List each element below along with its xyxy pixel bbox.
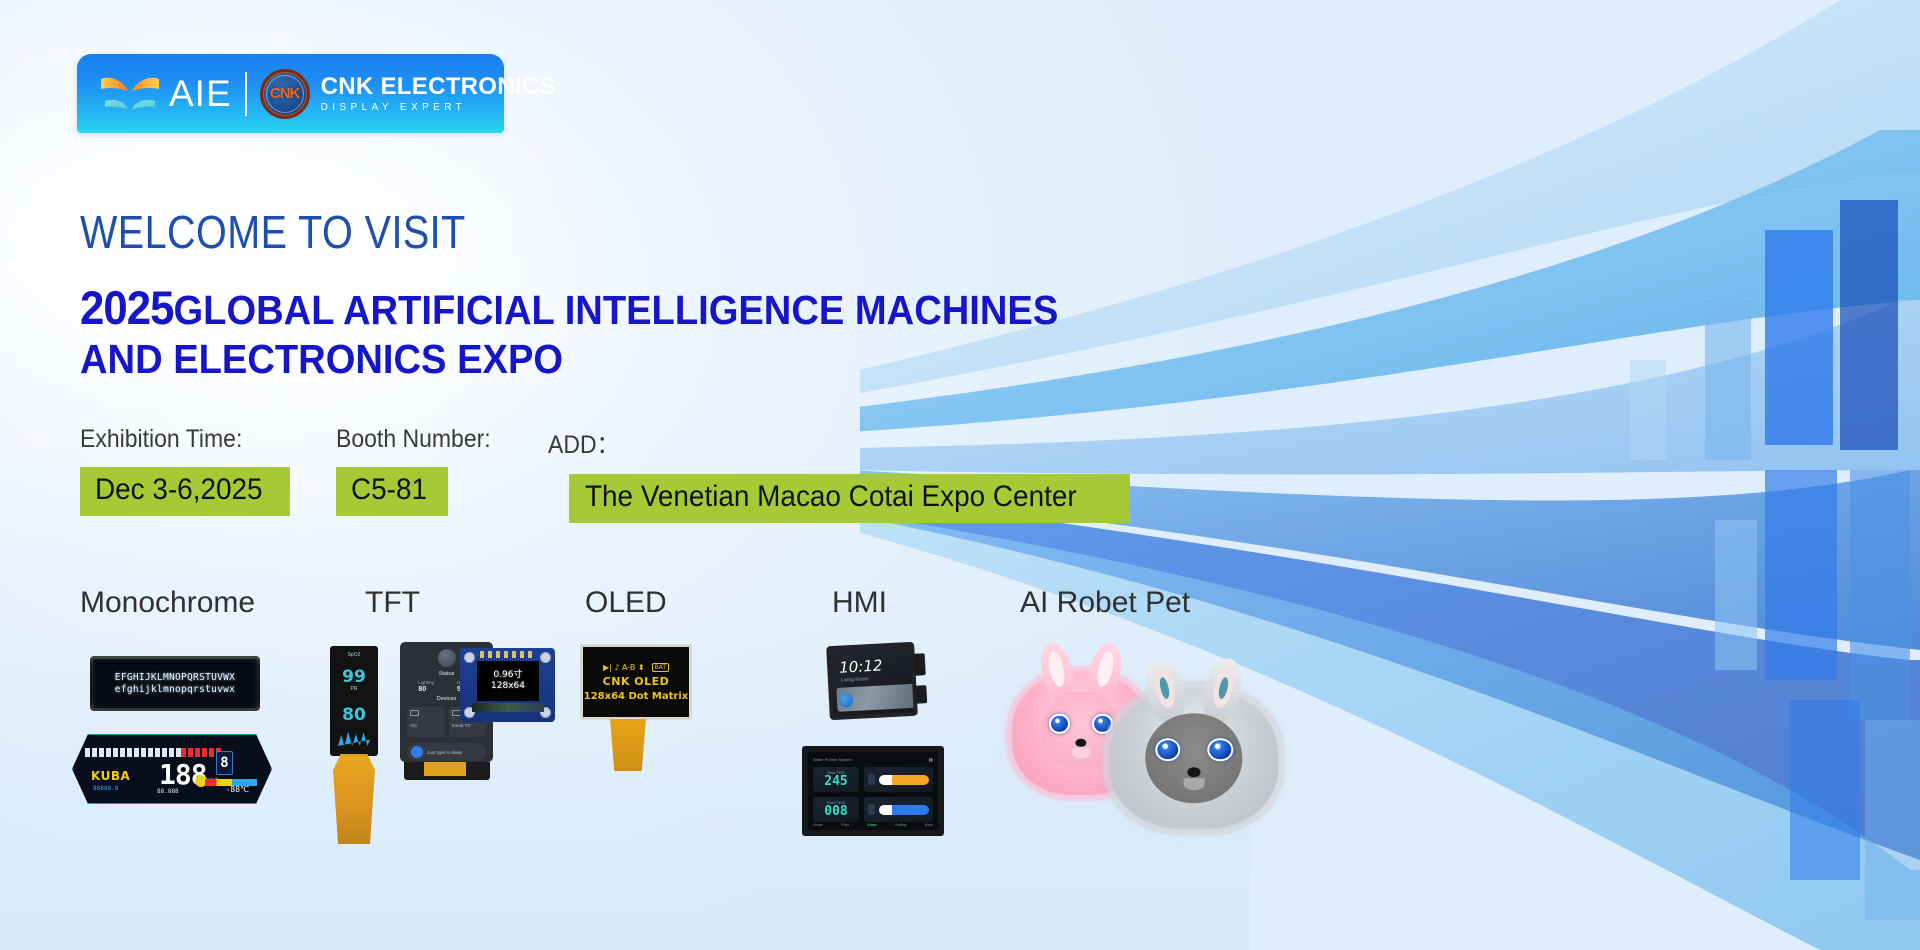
smart-panel-avatar-icon xyxy=(438,649,456,667)
oled-blue-screen: 0.96寸 128x64 xyxy=(477,661,539,701)
smart-panel-footer-label: Just type to sleep xyxy=(427,750,462,755)
oximeter-spo2-value: 99 xyxy=(334,668,374,686)
hmi-purifier-tds-out: Pure TDS 008 xyxy=(813,797,859,822)
oled-blue-ribbon xyxy=(472,703,544,712)
pcb-mount-hole xyxy=(540,652,551,663)
hmi-purifier-topbar: Water Purifier System ▮▮ xyxy=(813,757,933,762)
dashboard-brand: KUBA xyxy=(91,769,130,783)
pet-gray-nose xyxy=(1187,767,1201,777)
pet-gray-eye-right xyxy=(1208,738,1233,761)
warm-slider-track[interactable] xyxy=(879,775,929,785)
pet-gray-muzzle xyxy=(1183,778,1204,791)
hmi-switch-side-clip xyxy=(913,653,926,676)
aie-wordmark: AIE xyxy=(169,75,232,112)
smart-panel-footer-bar[interactable]: Just type to sleep xyxy=(407,743,486,761)
expo-year: 2025 xyxy=(80,281,174,334)
product-monochrome-character-lcd: EFGHIJKLMNOPQRSTUVWX efghijklmnopqrstuvw… xyxy=(90,656,260,711)
category-tft: TFT xyxy=(365,586,420,620)
oled-amber-screen: ▶| ♪ A-B ⬍ BAT CNK OLED 128x64 Dot Matri… xyxy=(583,647,689,717)
hmi-switch-subtitle: Living Room xyxy=(841,676,869,683)
dashboard-trip: 88.888 xyxy=(157,788,179,795)
exhibition-time-value: Dec 3-6,2025 xyxy=(95,473,263,507)
smart-panel-stat1-label: Lighting xyxy=(418,680,434,685)
aie-eyes-icon xyxy=(99,71,161,117)
oled-amber-subtitle: 128x64 Dot Matrix xyxy=(584,691,688,702)
cnk-seal-text: CNK xyxy=(263,72,307,116)
dashboard-temperature: -88℃ xyxy=(226,785,249,794)
dashboard-odometer: 88888.8 xyxy=(93,785,118,792)
oled-blue-size: 0.96寸 xyxy=(493,670,522,681)
hmi-purifier-cold-slider[interactable] xyxy=(864,797,933,822)
oled-amber-status-icons: ▶| ♪ A-B ⬍ BAT xyxy=(603,663,669,672)
smart-panel-device2-label: Smart TV xyxy=(452,723,471,728)
product-hmi-wall-switch: 10:12 Living Room xyxy=(826,642,918,721)
product-showcase: Monochrome EFGHIJKLMNOPQRSTUVWX efghijkl… xyxy=(0,586,1300,926)
booth-number-value: C5-81 xyxy=(351,473,427,507)
smart-panel-stat-lighting: Lighting 80 xyxy=(418,680,434,693)
cnk-company-name: CNK ELECTRONICS xyxy=(321,75,556,99)
product-tft-bar-oximeter: SpO2 99 PR 80 xyxy=(330,646,378,756)
pet-pink-face xyxy=(1041,692,1121,770)
mono-lcd-line2: efghijklmnopqrstuvwx xyxy=(115,684,235,695)
product-motorcycle-dashboard-lcd: KUBA 188 km/h 88888.8 88.888 8 -88℃ xyxy=(72,734,272,804)
category-label-monochrome: Monochrome xyxy=(80,586,255,620)
hmi-switch-time: 10:12 xyxy=(839,656,883,676)
oled-amber-flex-cable xyxy=(610,719,646,771)
smart-panel-device-ac[interactable]: A/C xyxy=(407,707,445,737)
hmi-purifier-nav2[interactable]: Filter xyxy=(841,823,849,827)
hmi-purifier-signal-icon: ▮▮ xyxy=(929,757,933,762)
pet-pink-nose xyxy=(1075,739,1086,748)
pet-gray-eye-left xyxy=(1155,738,1180,761)
pcb-mount-hole xyxy=(464,652,475,663)
product-oled-blue-module: 0.96寸 128x64 xyxy=(460,648,555,722)
address-value: The Venetian Macao Cotai Expo Center xyxy=(585,480,1077,514)
address-label: ADD： xyxy=(548,425,1083,461)
hmi-purifier-nav3[interactable]: Water xyxy=(867,823,876,827)
category-monochrome: Monochrome xyxy=(80,586,255,620)
oximeter-pr-value: 80 xyxy=(334,706,374,724)
ac-icon xyxy=(410,710,419,716)
tft-bar-flex-cable xyxy=(333,754,375,844)
cold-slider-track[interactable] xyxy=(879,805,929,815)
exhibition-time-label: Exhibition Time: xyxy=(80,425,273,454)
warm-water-icon xyxy=(868,774,875,785)
exhibition-time-block: Exhibition Time: Dec 3-6,2025 xyxy=(80,425,290,516)
category-label-tft: TFT xyxy=(365,586,420,620)
hmi-switch-screen: 10:12 Living Room xyxy=(830,646,913,716)
logo-divider xyxy=(245,72,247,116)
hmi-purifier-tds-out-value: 008 xyxy=(816,805,856,819)
booth-number-label: Booth Number: xyxy=(336,425,491,454)
category-oled: OLED xyxy=(585,586,667,620)
category-hmi: HMI xyxy=(832,586,887,620)
hmi-purifier-tds-in: Raw TDS 245 xyxy=(813,767,859,792)
hmi-purifier-nav5[interactable]: More xyxy=(925,823,933,827)
smart-panel-stat1-value: 80 xyxy=(418,686,434,693)
cold-water-icon xyxy=(868,804,875,815)
oximeter-waveform-icon xyxy=(338,730,370,746)
hmi-purifier-navbar: Home Filter Water Setting More xyxy=(813,823,933,827)
hmi-purifier-screen: Water Purifier System ▮▮ Raw TDS 245 Pur… xyxy=(808,752,938,830)
hmi-purifier-nav4[interactable]: Setting xyxy=(895,823,906,827)
category-ai-robot-pet: AI Robet Pet xyxy=(1020,586,1190,620)
pcb-pin-header xyxy=(480,651,536,658)
mono-lcd-line1: EFGHIJKLMNOPQRSTUVWX xyxy=(115,672,235,683)
category-label-ai-robot-pet: AI Robet Pet xyxy=(1020,586,1190,620)
exhibition-info-row: Exhibition Time: Dec 3-6,2025 Booth Numb… xyxy=(80,425,1180,545)
logo-bar: AIE CNK CNK ELECTRONICS DISPLAY EXPERT xyxy=(77,54,504,133)
oled-amber-icon-row: ▶| ♪ A-B ⬍ xyxy=(603,663,645,672)
pet-pink-muzzle xyxy=(1072,748,1090,759)
cnk-seal-icon: CNK xyxy=(260,69,310,119)
pet-pink-eye-left xyxy=(1049,714,1070,734)
product-hmi-water-purifier-panel: Water Purifier System ▮▮ Raw TDS 245 Pur… xyxy=(802,746,944,836)
cold-slider-knob[interactable] xyxy=(881,806,889,814)
oximeter-spo2-label: SpO2 xyxy=(334,652,374,658)
oled-amber-title: CNK OLED xyxy=(603,675,670,688)
battery-icon: BAT xyxy=(652,663,669,672)
product-oled-amber-module: ▶| ♪ A-B ⬍ BAT CNK OLED 128x64 Dot Matri… xyxy=(580,644,692,720)
address-pill: The Venetian Macao Cotai Expo Center xyxy=(569,474,1130,523)
hmi-purifier-nav1[interactable]: Home xyxy=(813,823,823,827)
dashboard-gear-indicator: 8 xyxy=(216,751,233,775)
expo-title-line1: 2025GLOBAL ARTIFICIAL INTELLIGENCE MACHI… xyxy=(80,283,1058,335)
smart-panel-device1-label: A/C xyxy=(410,723,418,728)
cnk-tagline: DISPLAY EXPERT xyxy=(321,103,556,113)
expo-title-rest: GLOBAL ARTIFICIAL INTELLIGENCE MACHINES xyxy=(174,287,1059,333)
oled-blue-resolution: 128x64 xyxy=(491,681,525,692)
expo-title: 2025GLOBAL ARTIFICIAL INTELLIGENCE MACHI… xyxy=(80,283,1132,384)
product-ai-robot-pet-gray xyxy=(1110,670,1278,842)
oximeter-pr-label: PR xyxy=(334,686,374,692)
hmi-purifier-tds-in-value: 245 xyxy=(816,775,856,789)
smart-panel-mic-icon xyxy=(411,746,423,758)
hmi-switch-side-clip xyxy=(914,685,927,704)
welcome-heading: WELCOME TO VISIT xyxy=(80,205,466,259)
booth-number-pill: C5-81 xyxy=(336,467,448,516)
hmi-purifier-warm-slider[interactable] xyxy=(864,767,933,792)
hmi-purifier-topbar-label: Water Purifier System xyxy=(813,757,852,762)
tft-panel-flex-cable xyxy=(424,762,466,776)
exhibition-time-pill: Dec 3-6,2025 xyxy=(80,467,290,516)
address-block: ADD： The Venetian Macao Cotai Expo Cente… xyxy=(548,425,1130,523)
cnk-brand-text: CNK ELECTRONICS DISPLAY EXPERT xyxy=(321,75,556,113)
category-label-hmi: HMI xyxy=(832,586,887,620)
aie-logo: AIE xyxy=(99,71,232,117)
expo-title-line2: AND ELECTRONICS EXPO xyxy=(80,335,1058,384)
booth-number-block: Booth Number: C5-81 xyxy=(336,425,504,516)
warm-slider-knob[interactable] xyxy=(881,776,889,784)
category-label-oled: OLED xyxy=(585,586,667,620)
